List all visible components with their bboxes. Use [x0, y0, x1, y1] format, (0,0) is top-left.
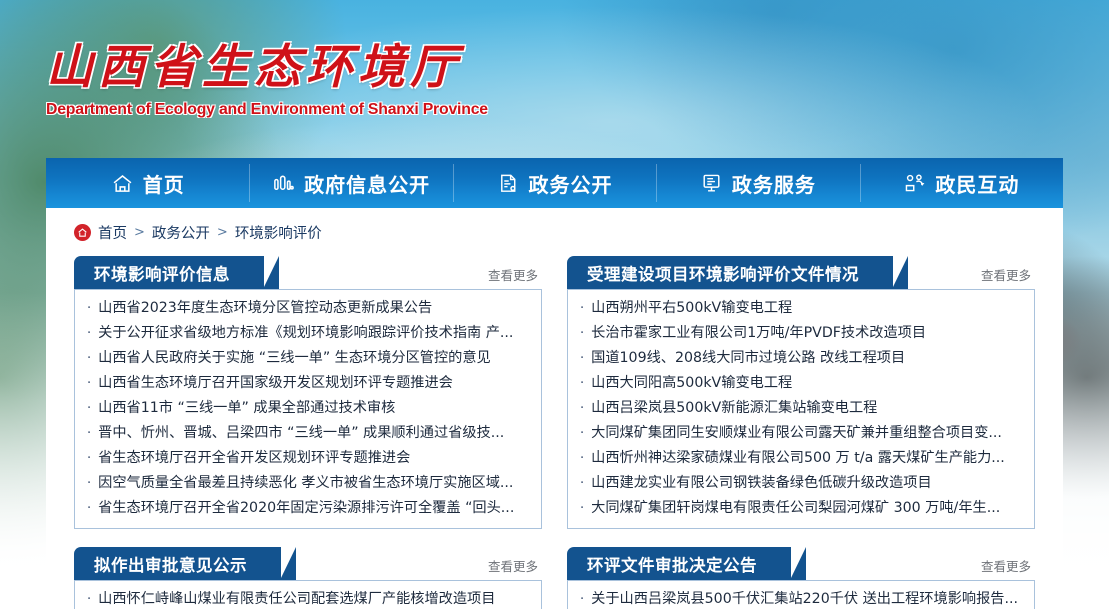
- panel-header: 环境影响评价信息 查看更多: [74, 256, 542, 289]
- bullet-icon: ·: [580, 297, 584, 321]
- panel-grid: 环境影响评价信息 查看更多 ·山西省2023年度生态环境分区管控动态更新成果公告…: [60, 256, 1049, 609]
- page-root: 山西省生态环境厅 Department of Ecology and Envir…: [0, 0, 1109, 609]
- bullet-icon: ·: [580, 472, 584, 496]
- bullet-icon: ·: [87, 472, 91, 496]
- list-item[interactable]: ·省生态环境厅召开全省2020年固定污染源排污许可全覆盖 “回头...: [87, 496, 529, 521]
- more-link-approval-decision[interactable]: 查看更多: [981, 556, 1031, 575]
- main-navigation: 首页 政府信息公开: [46, 158, 1063, 208]
- nav-item-home[interactable]: 首页: [46, 158, 249, 208]
- nav-item-government-info[interactable]: 政府信息公开: [249, 158, 452, 208]
- panel-env-impact-info: 环境影响评价信息 查看更多 ·山西省2023年度生态环境分区管控动态更新成果公告…: [74, 256, 542, 529]
- bullet-icon: ·: [580, 588, 584, 609]
- more-link-accepted-files[interactable]: 查看更多: [981, 265, 1031, 284]
- list-item[interactable]: ·长治市霍家工业有限公司1万吨/年PVDF技术改造项目: [580, 321, 1022, 346]
- bullet-icon: ·: [580, 322, 584, 346]
- bullet-icon: ·: [580, 497, 584, 521]
- list-item[interactable]: ·山西省2023年度生态环境分区管控动态更新成果公告: [87, 296, 529, 321]
- list-item[interactable]: ·大同煤矿集团轩岗煤电有限责任公司梨园河煤矿 300 万吨/年生...: [580, 496, 1022, 521]
- panel-approval-decision: 环评文件审批决定公告 查看更多 ·关于山西吕梁岚县500千伏汇集站220千伏 送…: [567, 547, 1035, 609]
- nav-label-affairs-disclosure: 政务公开: [529, 169, 613, 198]
- panel-proposed-approval: 拟作出审批意见公示 查看更多 ·山西怀仁峙峰山煤业有限责任公司配套选煤厂产能核增…: [74, 547, 542, 609]
- list-item[interactable]: ·山西省11市 “三线一单” 成果全部通过技术审核: [87, 396, 529, 421]
- list-item[interactable]: ·山西大同阳高500kV输变电工程: [580, 371, 1022, 396]
- bullet-icon: ·: [87, 372, 91, 396]
- bullet-icon: ·: [87, 297, 91, 321]
- panel-title-env-impact-info[interactable]: 环境影响评价信息: [74, 256, 264, 289]
- list-item[interactable]: ·山西吕梁岚县500kV新能源汇集站输变电工程: [580, 396, 1022, 421]
- list-item[interactable]: ·山西省人民政府关于实施 “三线一单” 生态环境分区管控的意见: [87, 346, 529, 371]
- bullet-icon: ·: [580, 422, 584, 446]
- document-icon: [497, 172, 520, 195]
- bullet-icon: ·: [87, 588, 91, 609]
- panel-list-approval-decision: ·关于山西吕梁岚县500千伏汇集站220千伏 送出工程环境影响报告...: [567, 580, 1035, 609]
- panel-list-env-impact-info: ·山西省2023年度生态环境分区管控动态更新成果公告 ·关于公开征求省级地方标准…: [74, 289, 542, 529]
- bullet-icon: ·: [580, 347, 584, 371]
- panel-title-approval-decision[interactable]: 环评文件审批决定公告: [567, 547, 791, 580]
- list-item[interactable]: ·山西忻州神达梁家碛煤业有限公司500 万 t/a 露天煤矿生产能力...: [580, 446, 1022, 471]
- breadcrumb-level3[interactable]: 环境影响评价: [235, 222, 322, 243]
- bullet-icon: ·: [87, 422, 91, 446]
- content-card: 首页 > 政务公开 > 环境影响评价 环境影响评价信息 查看更多 ·山西省202…: [46, 208, 1063, 609]
- list-item[interactable]: ·关于公开征求省级地方标准《规划环境影响跟踪评价技术指南 产...: [87, 321, 529, 346]
- home-icon-breadcrumb[interactable]: [74, 224, 91, 241]
- more-link-proposed-approval[interactable]: 查看更多: [488, 556, 538, 575]
- bars-icon: [272, 172, 295, 195]
- bullet-icon: ·: [87, 347, 91, 371]
- breadcrumb: 首页 > 政务公开 > 环境影响评价: [60, 208, 1049, 256]
- bullet-icon: ·: [87, 497, 91, 521]
- list-item[interactable]: ·大同煤矿集团同生安顺煤业有限公司露天矿兼并重组整合项目变...: [580, 421, 1022, 446]
- site-title-en: Department of Ecology and Environment of…: [46, 101, 454, 119]
- list-item[interactable]: ·山西省生态环境厅召开国家级开发区规划环评专题推进会: [87, 371, 529, 396]
- bullet-icon: ·: [580, 397, 584, 421]
- nav-label-affairs-service: 政务服务: [732, 169, 816, 198]
- bullet-icon: ·: [580, 372, 584, 396]
- list-item[interactable]: ·山西建龙实业有限公司钢铁装备绿色低碳升级改造项目: [580, 471, 1022, 496]
- panel-accepted-files: 受理建设项目环境影响评价文件情况 查看更多 ·山西朔州平右500kV输变电工程 …: [567, 256, 1035, 529]
- list-item[interactable]: ·山西朔州平右500kV输变电工程: [580, 296, 1022, 321]
- site-logo: 山西省生态环境厅 Department of Ecology and Envir…: [46, 28, 446, 119]
- breadcrumb-home[interactable]: 首页: [98, 222, 127, 243]
- bullet-icon: ·: [580, 447, 584, 471]
- nav-label-home: 首页: [143, 169, 185, 198]
- panel-header: 拟作出审批意见公示 查看更多: [74, 547, 542, 580]
- nav-label-government-info: 政府信息公开: [304, 169, 430, 198]
- bullet-icon: ·: [87, 447, 91, 471]
- bullet-icon: ·: [87, 322, 91, 346]
- breadcrumb-sep-2: >: [217, 225, 228, 240]
- nav-item-affairs-service[interactable]: 政务服务: [656, 158, 859, 208]
- panel-title-accepted-files[interactable]: 受理建设项目环境影响评价文件情况: [567, 256, 893, 289]
- panel-title-proposed-approval[interactable]: 拟作出审批意见公示: [74, 547, 281, 580]
- panel-header: 环评文件审批决定公告 查看更多: [567, 547, 1035, 580]
- breadcrumb-sep-1: >: [134, 225, 145, 240]
- content-shell: 首页 政府信息公开: [46, 158, 1063, 609]
- monitor-icon: [700, 172, 723, 195]
- people-icon: [903, 172, 926, 195]
- panel-header: 受理建设项目环境影响评价文件情况 查看更多: [567, 256, 1035, 289]
- list-item[interactable]: ·关于山西吕梁岚县500千伏汇集站220千伏 送出工程环境影响报告...: [580, 587, 1022, 609]
- list-item[interactable]: ·国道109线、208线大同市过境公路 改线工程项目: [580, 346, 1022, 371]
- breadcrumb-level2[interactable]: 政务公开: [152, 222, 210, 243]
- home-icon: [111, 172, 134, 195]
- list-item[interactable]: ·晋中、忻州、晋城、吕梁四市 “三线一单” 成果顺利通过省级技...: [87, 421, 529, 446]
- list-item[interactable]: ·因空气质量全省最差且持续恶化 孝义市被省生态环境厅实施区域...: [87, 471, 529, 496]
- list-item[interactable]: ·山西怀仁峙峰山煤业有限责任公司配套选煤厂产能核增改造项目: [87, 587, 529, 609]
- nav-item-affairs-disclosure[interactable]: 政务公开: [453, 158, 656, 208]
- nav-label-public-interaction: 政民互动: [935, 169, 1019, 198]
- bullet-icon: ·: [87, 397, 91, 421]
- more-link-env-impact-info[interactable]: 查看更多: [488, 265, 538, 284]
- panel-list-proposed-approval: ·山西怀仁峙峰山煤业有限责任公司配套选煤厂产能核增改造项目: [74, 580, 542, 609]
- nav-item-public-interaction[interactable]: 政民互动: [860, 158, 1063, 208]
- list-item[interactable]: ·省生态环境厅召开全省开发区规划环评专题推进会: [87, 446, 529, 471]
- site-title-cn: 山西省生态环境厅: [46, 28, 446, 97]
- panel-list-accepted-files: ·山西朔州平右500kV输变电工程 ·长治市霍家工业有限公司1万吨/年PVDF技…: [567, 289, 1035, 529]
